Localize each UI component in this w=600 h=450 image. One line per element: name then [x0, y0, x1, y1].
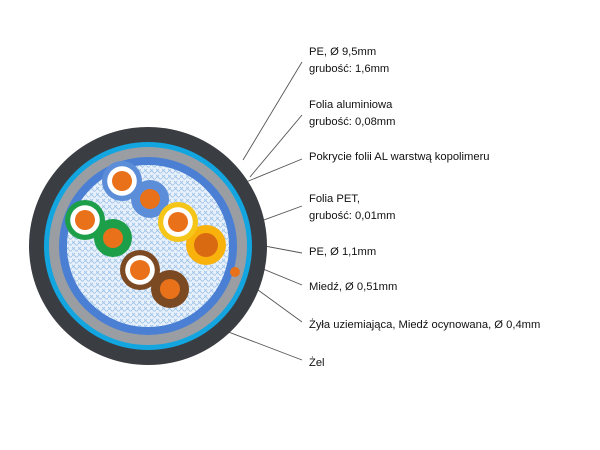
- pair-blue-striped-copper-core: [112, 171, 132, 191]
- ground-wire: [230, 267, 240, 277]
- pair-green-striped-copper-core: [75, 210, 95, 230]
- pair-green-solid-copper-core: [103, 228, 123, 248]
- label-pe-insulation: PE, Ø 1,1mm: [309, 246, 376, 258]
- label-pet-film-line-1: Folia PET,: [309, 193, 360, 205]
- pair-blue-solid-copper-core: [140, 189, 160, 209]
- ground-wire-core: [230, 267, 240, 277]
- cable-cross-section-diagram: PE, Ø 9,5mmgrubość: 1,6mmFolia aluminiow…: [0, 0, 600, 450]
- label-pe-jacket-line-2: grubość: 1,6mm: [309, 63, 389, 75]
- label-pet-film-line-2: grubość: 0,01mm: [309, 210, 395, 222]
- label-gel: Żel: [309, 356, 325, 369]
- label-aluminium-foil-line-1: Folia aluminiowa: [309, 99, 393, 111]
- pair-orange-striped-copper-core: [168, 212, 188, 232]
- label-copper: Miedź, Ø 0,51mm: [309, 281, 397, 293]
- pair-brown-solid-copper-core: [160, 279, 180, 299]
- label-pe-jacket-line-1: PE, Ø 9,5mm: [309, 46, 376, 58]
- label-copolymer: Pokrycie folii AL warstwą kopolimeru: [309, 151, 490, 163]
- label-ground-wire: Żyła uziemiająca, Miedź ocynowana, Ø 0,4…: [309, 318, 540, 331]
- pair-orange-solid-copper-core: [194, 233, 218, 257]
- pair-brown-striped-copper-core: [130, 260, 150, 280]
- label-aluminium-foil-line-2: grubość: 0,08mm: [309, 116, 395, 128]
